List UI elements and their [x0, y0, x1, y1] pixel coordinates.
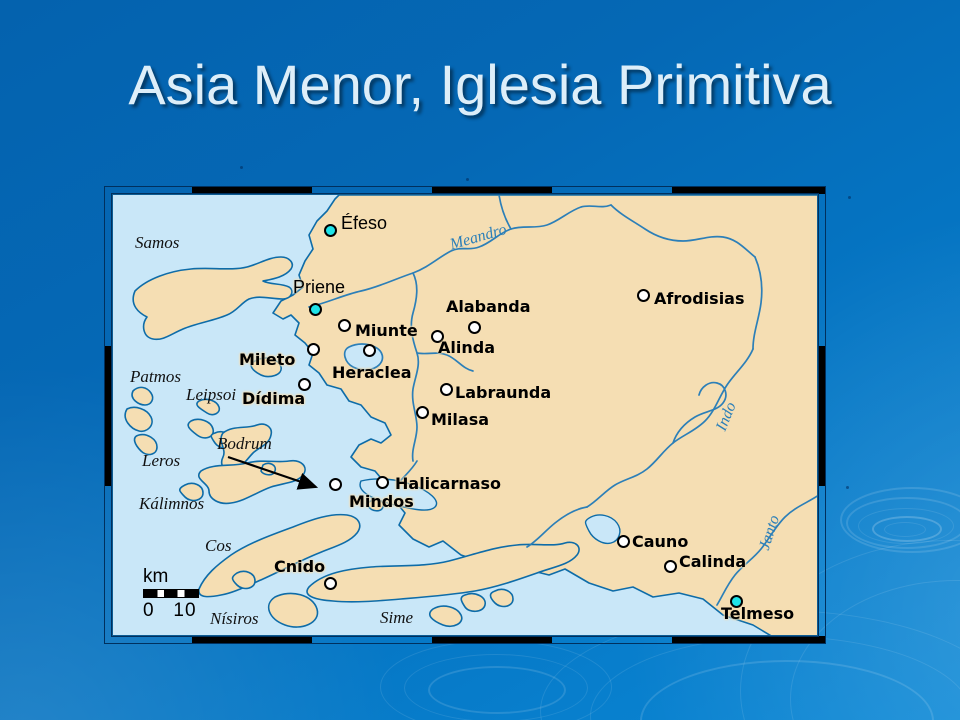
city-marker-priene[interactable]	[309, 303, 322, 316]
city-marker-efeso[interactable]	[324, 224, 337, 237]
place-label-bodrum: Bodrum	[217, 434, 272, 454]
city-label-labraunda: Labraunda	[455, 383, 551, 402]
ripple-ring	[872, 516, 942, 542]
ripple-ring	[884, 522, 926, 537]
speck-dot	[240, 166, 243, 169]
city-label-priene: Priene	[293, 277, 345, 298]
city-marker-mindos[interactable]	[329, 478, 342, 491]
city-marker-alabanda[interactable]	[468, 321, 481, 334]
island-kalimnos	[199, 461, 305, 504]
slide-title: Asia Menor, Iglesia Primitiva	[0, 52, 960, 117]
map-canvas: ÉfesoPrieneMiunteMiletoHeracleaDídimaAla…	[112, 194, 818, 636]
scale-unit-label: km	[143, 567, 199, 586]
island-patmos	[132, 387, 153, 405]
slide-canvas: Asia Menor, Iglesia Primitiva	[0, 0, 960, 720]
ripple-ring	[380, 640, 612, 720]
island-samos	[133, 257, 292, 339]
city-marker-calinda[interactable]	[664, 560, 677, 573]
city-marker-afrodisias[interactable]	[637, 289, 650, 302]
city-label-milasa: Milasa	[431, 410, 489, 429]
ripple-ring	[840, 487, 960, 553]
city-label-cauno: Cauno	[632, 532, 688, 551]
island-leipsoi-b	[188, 419, 213, 437]
city-label-cnido: Cnido	[274, 557, 325, 576]
islet-c	[261, 463, 275, 474]
city-marker-mileto[interactable]	[307, 343, 320, 356]
city-label-alabanda: Alabanda	[446, 297, 531, 316]
city-marker-heraclea[interactable]	[363, 344, 376, 357]
scale-bar-graphic	[143, 589, 199, 598]
peninsula-knidos	[307, 542, 579, 602]
island-sime	[430, 606, 462, 626]
island-label-sime: Sime	[380, 608, 413, 628]
island-sime-c	[491, 589, 514, 606]
frame-outline-right	[825, 186, 826, 644]
ripple-ring	[846, 497, 960, 549]
island-label-leros: Leros	[142, 451, 180, 471]
frame-outline-bottom	[104, 643, 826, 644]
city-label-alinda: Alinda	[438, 338, 495, 357]
frame-outline-inner-right	[818, 193, 819, 637]
city-label-didima: Dídima	[242, 389, 305, 408]
city-label-halicarnaso: Halicarnaso	[395, 474, 501, 493]
scale-tick-0: 0	[143, 600, 155, 621]
ripple-ring	[640, 660, 934, 720]
frame-outline-left	[104, 186, 105, 644]
city-label-telmeso: Telmeso	[721, 604, 794, 623]
map-figure: ÉfesoPrieneMiunteMiletoHeracleaDídimaAla…	[104, 186, 826, 644]
city-label-mindos: Mindos	[349, 492, 414, 511]
city-label-miunte: Miunte	[355, 321, 418, 340]
city-label-mileto: Mileto	[239, 350, 295, 369]
island-nisiros	[269, 593, 318, 627]
map-scale-bar: km 0 10	[143, 567, 199, 622]
city-label-heraclea: Heraclea	[332, 363, 412, 382]
island-label-kalimnos: Kálimnos	[139, 494, 204, 514]
speck-dot	[846, 486, 849, 489]
island-label-leipsoi: Leipsoi	[186, 385, 236, 405]
city-marker-halicarnaso[interactable]	[376, 476, 389, 489]
scale-tick-labels: 0 10	[143, 600, 199, 622]
ripple-ring	[404, 654, 588, 720]
island-sime-b	[461, 594, 485, 612]
city-marker-labraunda[interactable]	[440, 383, 453, 396]
speck-dot	[848, 196, 851, 199]
island-label-samos: Samos	[135, 233, 179, 253]
ripple-ring	[590, 636, 960, 720]
city-marker-milasa[interactable]	[416, 406, 429, 419]
ripple-ring	[858, 508, 954, 544]
island-label-patmos: Patmos	[130, 367, 181, 387]
city-marker-cauno[interactable]	[617, 535, 630, 548]
scale-tick-10: 10	[173, 600, 196, 621]
island-label-cos: Cos	[205, 536, 231, 556]
island-label-nisiros: Nísiros	[210, 609, 259, 629]
city-label-calinda: Calinda	[679, 552, 746, 571]
speck-dot	[466, 178, 469, 181]
ripple-ring	[428, 666, 566, 714]
frame-outline-inner-bottom	[111, 636, 819, 637]
city-label-afrodisias: Afrodisias	[654, 289, 745, 308]
city-label-efeso: Éfeso	[341, 213, 387, 234]
island-patmos-b	[125, 407, 152, 431]
frame-outline-top	[104, 186, 826, 187]
city-marker-miunte[interactable]	[338, 319, 351, 332]
city-marker-cnido[interactable]	[324, 577, 337, 590]
